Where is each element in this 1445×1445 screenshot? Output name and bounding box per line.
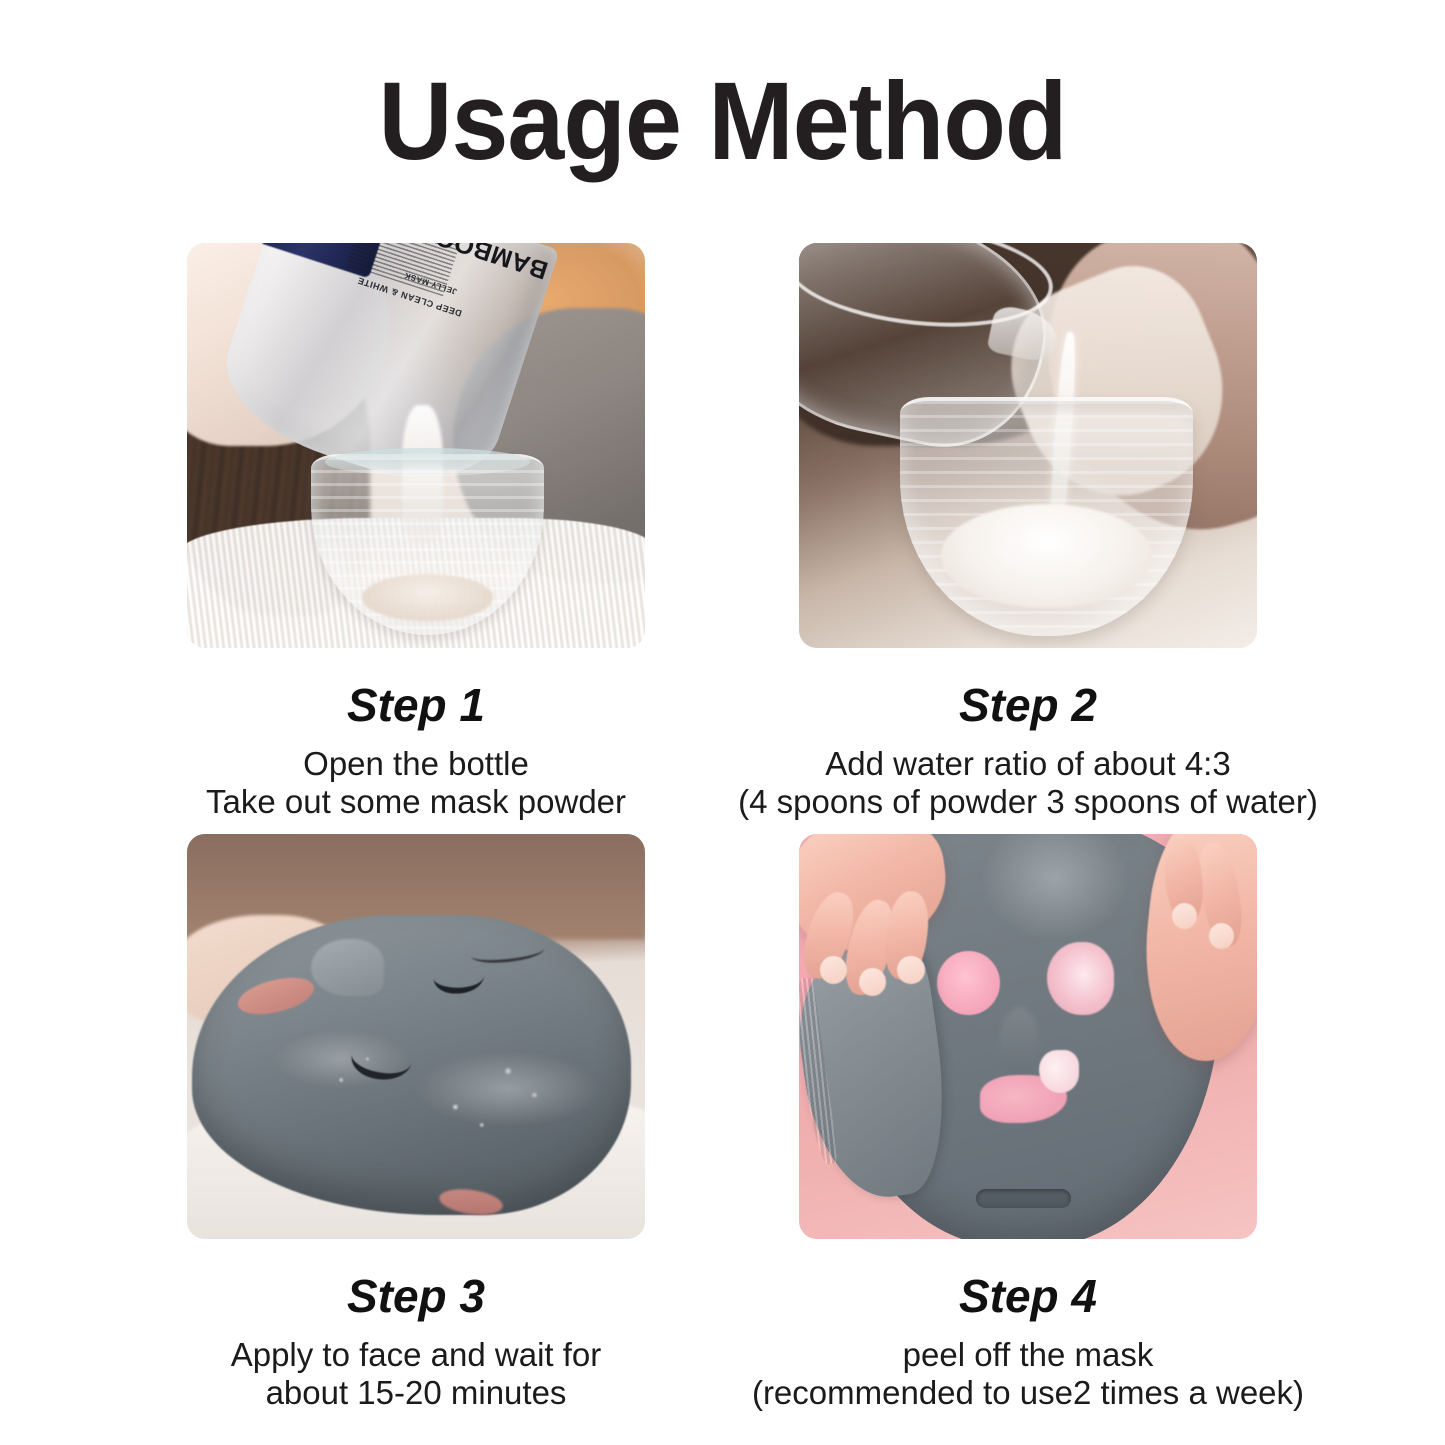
step-1-photo: BAMBOO CHARCOAL JELLY MASK DEEP CLEAN & … <box>187 243 645 648</box>
mask-highlights <box>192 915 632 1215</box>
pouring-mask-powder-from-bottle-image: BAMBOO CHARCOAL JELLY MASK DEEP CLEAN & … <box>187 243 645 648</box>
step-3-label: Step 3 <box>116 1272 716 1320</box>
step-4-caption-line-1: peel off the mask <box>728 1336 1328 1374</box>
powder-in-bowl <box>362 574 493 620</box>
peeling-off-gray-jelly-mask-image <box>799 834 1257 1239</box>
step-3-photo <box>187 834 645 1239</box>
gray-mask-applied-to-face-image <box>187 834 645 1239</box>
step-4-caption: peel off the mask (recommended to use2 t… <box>728 1336 1328 1412</box>
step-1-caption-line-1: Open the bottle <box>116 745 716 783</box>
pouring-water-into-powder-bowl-image <box>799 243 1257 648</box>
step-card-4: Step 4 peel off the mask (recommended to… <box>728 834 1328 1412</box>
step-card-2: Step 2 Add water ratio of about 4:3 (4 s… <box>728 243 1328 821</box>
left-hand-nail-1 <box>820 956 847 984</box>
left-hand-nail-2 <box>859 968 886 996</box>
usage-method-infographic: Usage Method BAMBOO CHARCOAL JELLY MASK <box>0 0 1445 1445</box>
nose <box>311 939 384 996</box>
step-1-caption: Open the bottle Take out some mask powde… <box>116 745 716 821</box>
step-4-photo <box>799 834 1257 1239</box>
step-2-caption: Add water ratio of about 4:3 (4 spoons o… <box>728 745 1328 821</box>
mask-eye-hole-right <box>1047 942 1114 1015</box>
step-2-caption-line-2: (4 spoons of powder 3 spoons of water) <box>728 783 1328 821</box>
masked-face <box>192 915 632 1215</box>
step-2-label: Step 2 <box>728 681 1328 729</box>
step-1-label: Step 1 <box>116 681 716 729</box>
step-3-caption-line-2: about 15-20 minutes <box>116 1374 716 1412</box>
page-title: Usage Method <box>51 62 1395 182</box>
mask-mouth-highlight <box>1039 1050 1078 1093</box>
step-3-caption: Apply to face and wait for about 15-20 m… <box>116 1336 716 1412</box>
mask-mouth-slot <box>976 1189 1071 1209</box>
mask-eye-hole-left <box>937 951 1000 1015</box>
step-4-caption-line-2: (recommended to use2 times a week) <box>728 1374 1328 1412</box>
step-card-3: Step 3 Apply to face and wait for about … <box>116 834 716 1412</box>
step-4-label: Step 4 <box>728 1272 1328 1320</box>
left-hand-nail-3 <box>897 956 924 984</box>
mask-nose-shadow <box>1000 1007 1039 1076</box>
step-card-1: BAMBOO CHARCOAL JELLY MASK DEEP CLEAN & … <box>116 243 716 821</box>
step-2-photo <box>799 243 1257 648</box>
step-2-caption-line-1: Add water ratio of about 4:3 <box>728 745 1328 783</box>
step-3-caption-line-1: Apply to face and wait for <box>116 1336 716 1374</box>
powder-in-bowl <box>941 504 1152 607</box>
step-1-caption-line-2: Take out some mask powder <box>116 783 716 821</box>
